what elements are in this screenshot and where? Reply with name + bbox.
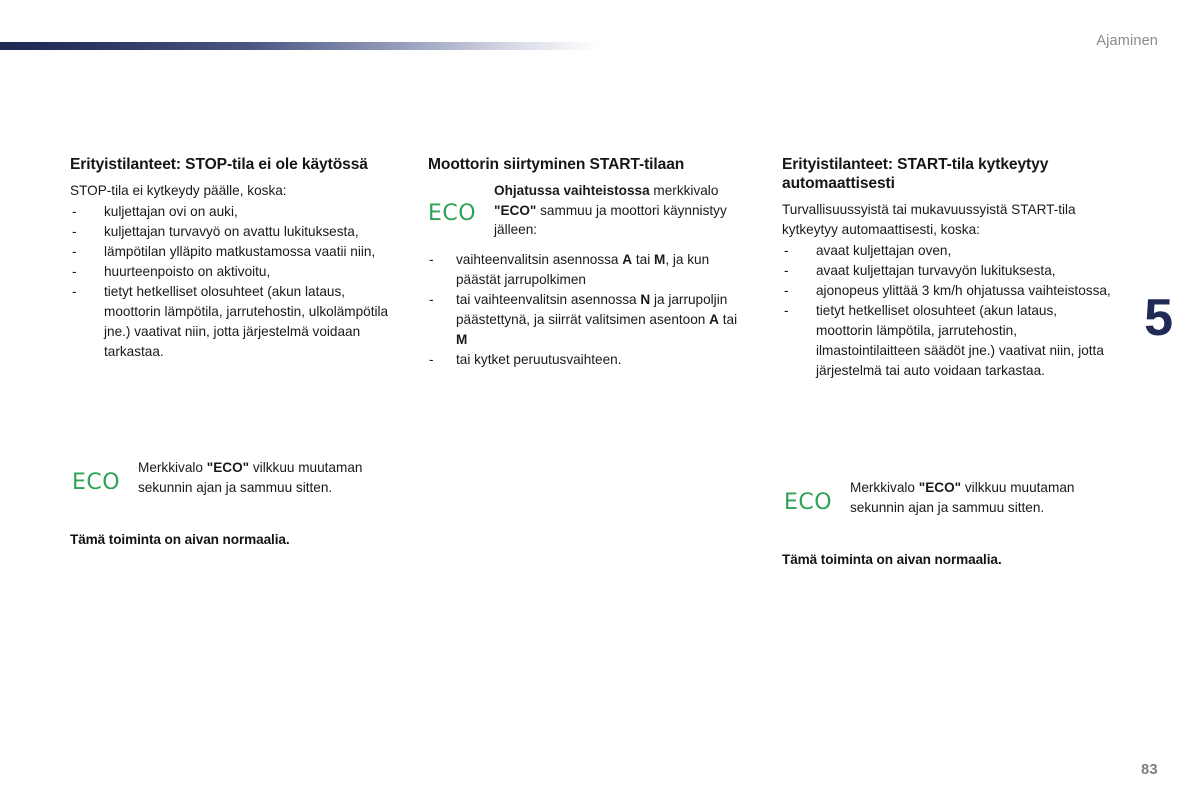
list-item-text: tai vaihteenvalitsin asennossa N ja jarr… — [456, 292, 737, 347]
eco-callout-text-part1: merkkivalo — [650, 183, 719, 198]
list-item-text: lämpötilan ylläpito matkustamossa vaatii… — [104, 244, 375, 259]
list-item: -kuljettajan turvavyö on avattu lukituks… — [70, 222, 400, 242]
list-item: -lämpötilan ylläpito matkustamossa vaati… — [70, 242, 400, 262]
bullet-dash-marker: - — [784, 261, 789, 281]
list-item-text: huurteenpoisto on aktivoitu, — [104, 264, 270, 279]
list-item-emphasis: A — [622, 252, 632, 267]
note-right-quoted: "ECO" — [919, 480, 961, 495]
list-item-segment: vaihteenvalitsin asennossa — [456, 252, 622, 267]
bullet-dash-marker: - — [784, 281, 789, 301]
section-intro-left: STOP-tila ei kytkeydy päälle, koska: — [70, 181, 400, 200]
bullet-list-right: -avaat kuljettajan oven,-avaat kuljettaj… — [782, 241, 1112, 381]
eco-callout-middle: ECO Ohjatussa vaihteistossa merkkivalo "… — [428, 181, 750, 240]
list-item-text: vaihteenvalitsin asennossa A tai M, ja k… — [456, 252, 709, 287]
bullet-dash-marker: - — [72, 242, 77, 262]
note-block-right: ECO Merkkivalo "ECO" vilkkuu muutaman se… — [782, 478, 1122, 567]
eco-indicator-icon: ECO — [428, 203, 476, 225]
list-item: -vaihteenvalitsin asennossa A tai M, ja … — [428, 250, 750, 290]
list-item-text: tai kytket peruutusvaihteen. — [456, 352, 622, 367]
list-item: -tai vaihteenvalitsin asennossa N ja jar… — [428, 290, 750, 350]
list-item-segment: tai — [632, 252, 654, 267]
list-item-text: tietyt hetkelliset olosuhteet (akun lata… — [816, 303, 1104, 378]
note-row-right: ECO Merkkivalo "ECO" vilkkuu muutaman se… — [782, 478, 1122, 524]
list-item-text: ajonopeus ylittää 3 km/h ohjatussa vaiht… — [816, 283, 1111, 298]
list-item: -avaat kuljettajan oven, — [782, 241, 1112, 261]
bullet-dash-marker: - — [72, 222, 77, 242]
bullet-dash-marker: - — [429, 350, 434, 370]
column-middle: Moottorin siirtyminen START-tilaan ECO O… — [428, 155, 750, 370]
list-item-emphasis: N — [640, 292, 650, 307]
header-gradient-rule — [0, 42, 598, 50]
eco-callout-text: Ohjatussa vaihteistossa merkkivalo "ECO"… — [494, 181, 750, 240]
bullet-dash-marker: - — [784, 241, 789, 261]
list-item-text: kuljettajan ovi on auki, — [104, 204, 238, 219]
list-item: -ajonopeus ylittää 3 km/h ohjatussa vaih… — [782, 281, 1112, 301]
list-item: -tietyt hetkelliset olosuhteet (akun lat… — [782, 301, 1112, 381]
section-intro-right: Turvallisuussyistä tai mukavuussyistä ST… — [782, 200, 1112, 239]
note-text-right: Merkkivalo "ECO" vilkkuu muutaman sekunn… — [850, 478, 1122, 518]
section-title-stop-not-active: Erityistilanteet: STOP-tila ei ole käytö… — [70, 155, 400, 174]
note-left-quoted: "ECO" — [207, 460, 249, 475]
note-footer-left: Tämä toiminta on aivan normaalia. — [70, 532, 410, 547]
eco-callout-lead-bold: Ohjatussa vaihteistossa — [494, 183, 650, 198]
note-row-left: ECO Merkkivalo "ECO" vilkkuu muutaman se… — [70, 458, 410, 504]
bullet-dash-marker: - — [429, 250, 434, 270]
section-title-start-auto: Erityistilanteet: START-tila kytkeytyy a… — [782, 155, 1112, 193]
list-item-segment: tai vaihteenvalitsin asennossa — [456, 292, 640, 307]
list-item-segment: tai kytket peruutusvaihteen. — [456, 352, 622, 367]
bullet-list-middle: -vaihteenvalitsin asennossa A tai M, ja … — [428, 250, 750, 370]
bullet-dash-marker: - — [784, 301, 789, 321]
list-item-segment: tai — [719, 312, 737, 327]
list-item: -tietyt hetkelliset olosuhteet (akun lat… — [70, 282, 400, 362]
bullet-dash-marker: - — [72, 262, 77, 282]
list-item: -tai kytket peruutusvaihteen. — [428, 350, 750, 370]
list-item-text: tietyt hetkelliset olosuhteet (akun lata… — [104, 284, 388, 359]
list-item-text: avaat kuljettajan turvavyön lukituksesta… — [816, 263, 1056, 278]
bullet-dash-marker: - — [429, 290, 434, 310]
list-item: -avaat kuljettajan turvavyön lukituksest… — [782, 261, 1112, 281]
column-left: Erityistilanteet: STOP-tila ei ole käytö… — [70, 155, 400, 362]
list-item-emphasis: M — [456, 332, 467, 347]
page-number: 83 — [1141, 762, 1158, 778]
eco-indicator-icon: ECO — [72, 472, 120, 494]
note-block-left: ECO Merkkivalo "ECO" vilkkuu muutaman se… — [70, 458, 410, 547]
note-left-part1: Merkkivalo — [138, 460, 207, 475]
note-text-left: Merkkivalo "ECO" vilkkuu muutaman sekunn… — [138, 458, 410, 498]
note-footer-right: Tämä toiminta on aivan normaalia. — [782, 552, 1122, 567]
bullet-dash-marker: - — [72, 282, 77, 302]
list-item: -huurteenpoisto on aktivoitu, — [70, 262, 400, 282]
list-item-emphasis: A — [709, 312, 719, 327]
bullet-dash-marker: - — [72, 202, 77, 222]
header-chapter-title: Ajaminen — [1096, 33, 1158, 49]
eco-callout-quoted: "ECO" — [494, 203, 536, 218]
column-right: Erityistilanteet: START-tila kytkeytyy a… — [782, 155, 1112, 381]
chapter-number-marker: 5 — [1144, 292, 1172, 344]
eco-indicator-icon: ECO — [784, 492, 832, 514]
list-item-text: kuljettajan turvavyö on avattu lukitukse… — [104, 224, 359, 239]
bullet-list-left: -kuljettajan ovi on auki,-kuljettajan tu… — [70, 202, 400, 362]
list-item-emphasis: M — [654, 252, 665, 267]
section-title-engine-to-start: Moottorin siirtyminen START-tilaan — [428, 155, 750, 174]
note-right-part1: Merkkivalo — [850, 480, 919, 495]
list-item-text: avaat kuljettajan oven, — [816, 243, 951, 258]
list-item: -kuljettajan ovi on auki, — [70, 202, 400, 222]
